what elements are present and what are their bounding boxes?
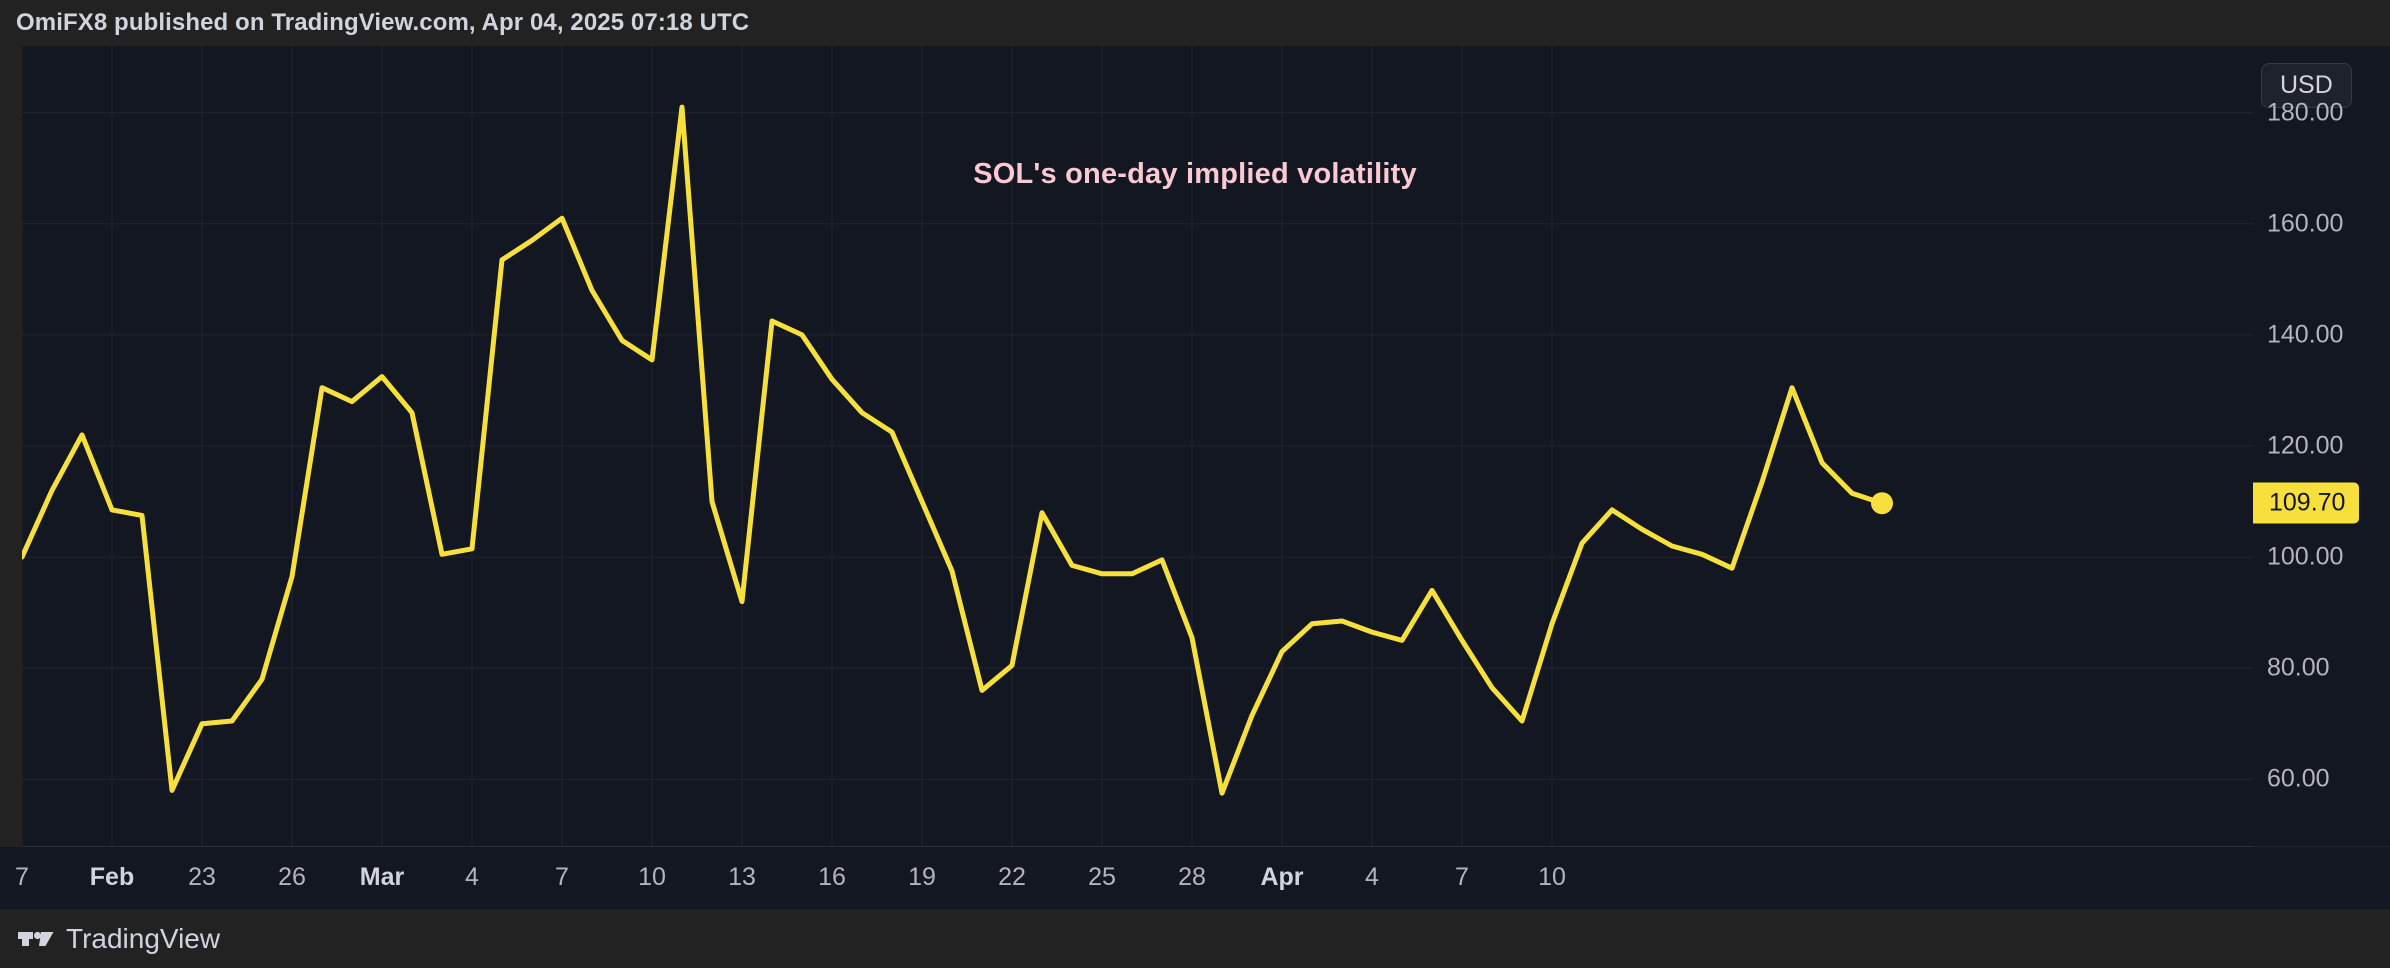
time-tick-label: 19 — [908, 863, 936, 892]
price-tick-label: 120.00 — [2267, 432, 2343, 461]
time-tick-label: 26 — [278, 863, 306, 892]
time-tick-label: Apr — [1260, 863, 1303, 892]
time-tick-label: 28 — [1178, 863, 1206, 892]
price-tick-label: 160.00 — [2267, 209, 2343, 238]
last-price-badge[interactable]: 109.70 — [2253, 483, 2359, 524]
time-tick-label: 7 — [1455, 863, 1469, 892]
time-tick-label: 16 — [818, 863, 846, 892]
price-tick-label: 100.00 — [2267, 543, 2343, 572]
time-tick-label: Mar — [360, 863, 404, 892]
tradingview-logo-icon — [18, 926, 54, 952]
time-axis[interactable]: 7Feb2326Mar4710131619222528Apr4710 — [0, 847, 2390, 909]
volatility-line-series — [22, 107, 1882, 793]
footer-bar: TradingView — [0, 909, 2390, 968]
time-tick-label: 10 — [1538, 863, 1566, 892]
price-axis[interactable]: USD 60.0080.00100.00120.00140.00160.0018… — [2253, 46, 2390, 846]
price-tick-label: 60.00 — [2267, 765, 2330, 794]
time-tick-label: 25 — [1088, 863, 1116, 892]
time-tick-label: 4 — [1365, 863, 1379, 892]
time-tick-label: 22 — [998, 863, 1026, 892]
chart-title: SOL's one-day implied volatility — [973, 158, 1417, 191]
time-tick-label: 10 — [638, 863, 666, 892]
price-tick-label: 180.00 — [2267, 98, 2343, 127]
attribution-bar: OmiFX8 published on TradingView.com, Apr… — [0, 0, 2390, 46]
time-tick-label: Feb — [90, 863, 134, 892]
tradingview-wordmark: TradingView — [66, 923, 220, 955]
time-tick-label: 23 — [188, 863, 216, 892]
last-value-marker — [1871, 492, 1893, 514]
time-tick-label: 7 — [555, 863, 569, 892]
tradingview-logo[interactable]: TradingView — [18, 923, 220, 955]
time-tick-label: 13 — [728, 863, 756, 892]
time-tick-label: 7 — [15, 863, 29, 892]
price-tick-label: 140.00 — [2267, 320, 2343, 349]
price-tick-label: 80.00 — [2267, 654, 2330, 683]
attribution-text: OmiFX8 published on TradingView.com, Apr… — [16, 9, 749, 37]
horizontal-gridlines — [22, 113, 2253, 780]
time-tick-label: 4 — [465, 863, 479, 892]
